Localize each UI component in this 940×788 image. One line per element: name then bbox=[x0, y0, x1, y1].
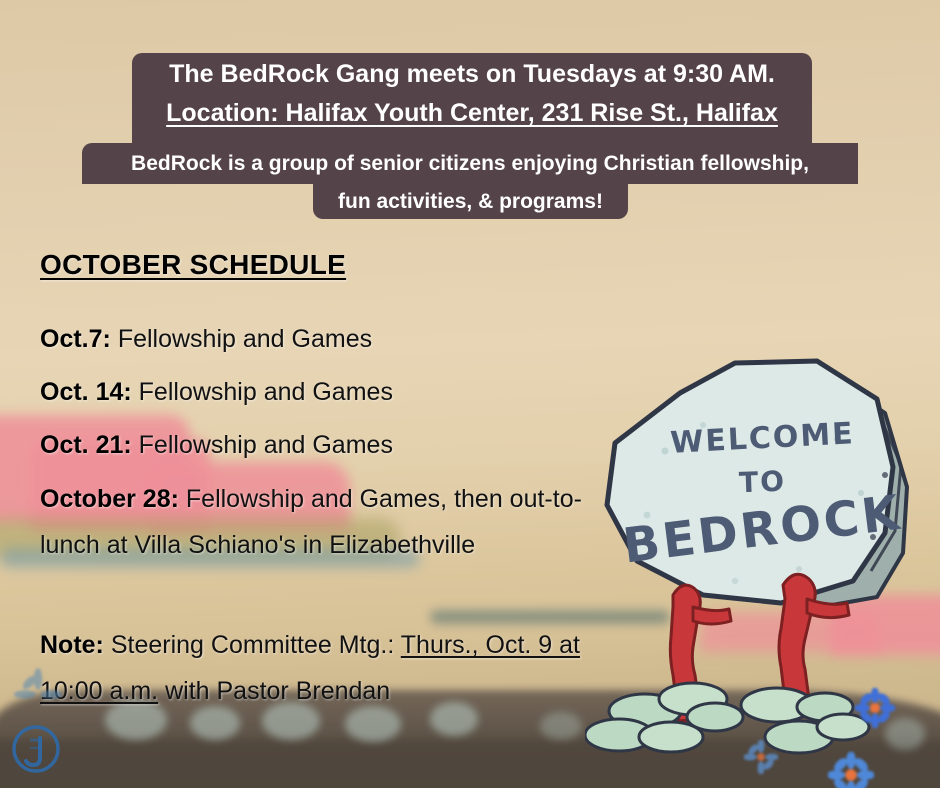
group-description-line-1: BedRock is a group of senior citizens en… bbox=[82, 143, 858, 184]
group-description-line-2: fun activities, & programs! bbox=[313, 184, 628, 219]
blue-flower-icon bbox=[855, 688, 895, 728]
schedule-entry: Oct. 21: Fellowship and Games bbox=[40, 424, 393, 466]
schedule-entry: Oct.7: Fellowship and Games bbox=[40, 318, 372, 360]
meeting-time-line: The BedRock Gang meets on Tuesdays at 9:… bbox=[169, 55, 775, 94]
blue-flower-icon bbox=[828, 752, 874, 788]
meeting-info-banner: The BedRock Gang meets on Tuesdays at 9:… bbox=[132, 53, 812, 137]
schedule-entry: October 28: Fellowship and Games, then o… bbox=[40, 476, 585, 568]
note-label: Note: bbox=[40, 631, 104, 659]
note-text-before: Steering Committee Mtg.: bbox=[111, 631, 394, 659]
schedule-entry-text: Fellowship and Games bbox=[139, 378, 393, 406]
schedule-entry-date: Oct. 21: bbox=[40, 431, 132, 459]
flyer-canvas: The BedRock Gang meets on Tuesdays at 9:… bbox=[0, 0, 940, 788]
schedule-entry: Oct. 14: Fellowship and Games bbox=[40, 371, 393, 413]
circular-j-logo[interactable] bbox=[10, 723, 62, 775]
schedule-entry-date: Oct.7: bbox=[40, 325, 111, 353]
blue-flower-icon bbox=[14, 668, 62, 716]
schedule-entry-date: Oct. 14: bbox=[40, 378, 132, 406]
schedule-entry-date: October 28: bbox=[40, 485, 179, 513]
schedule-entry-text: Fellowship and Games bbox=[139, 431, 393, 459]
note-text-after: with Pastor Brendan bbox=[165, 677, 390, 705]
schedule-title: OCTOBER SCHEDULE bbox=[40, 249, 346, 281]
schedule-entry-text: Fellowship and Games bbox=[118, 325, 372, 353]
blue-flower-icon bbox=[744, 740, 778, 774]
background-pebble bbox=[540, 712, 582, 740]
meeting-location-line: Location: Halifax Youth Center, 231 Rise… bbox=[166, 94, 778, 133]
steering-committee-note: Note: Steering Committee Mtg.: Thurs., O… bbox=[40, 622, 585, 714]
